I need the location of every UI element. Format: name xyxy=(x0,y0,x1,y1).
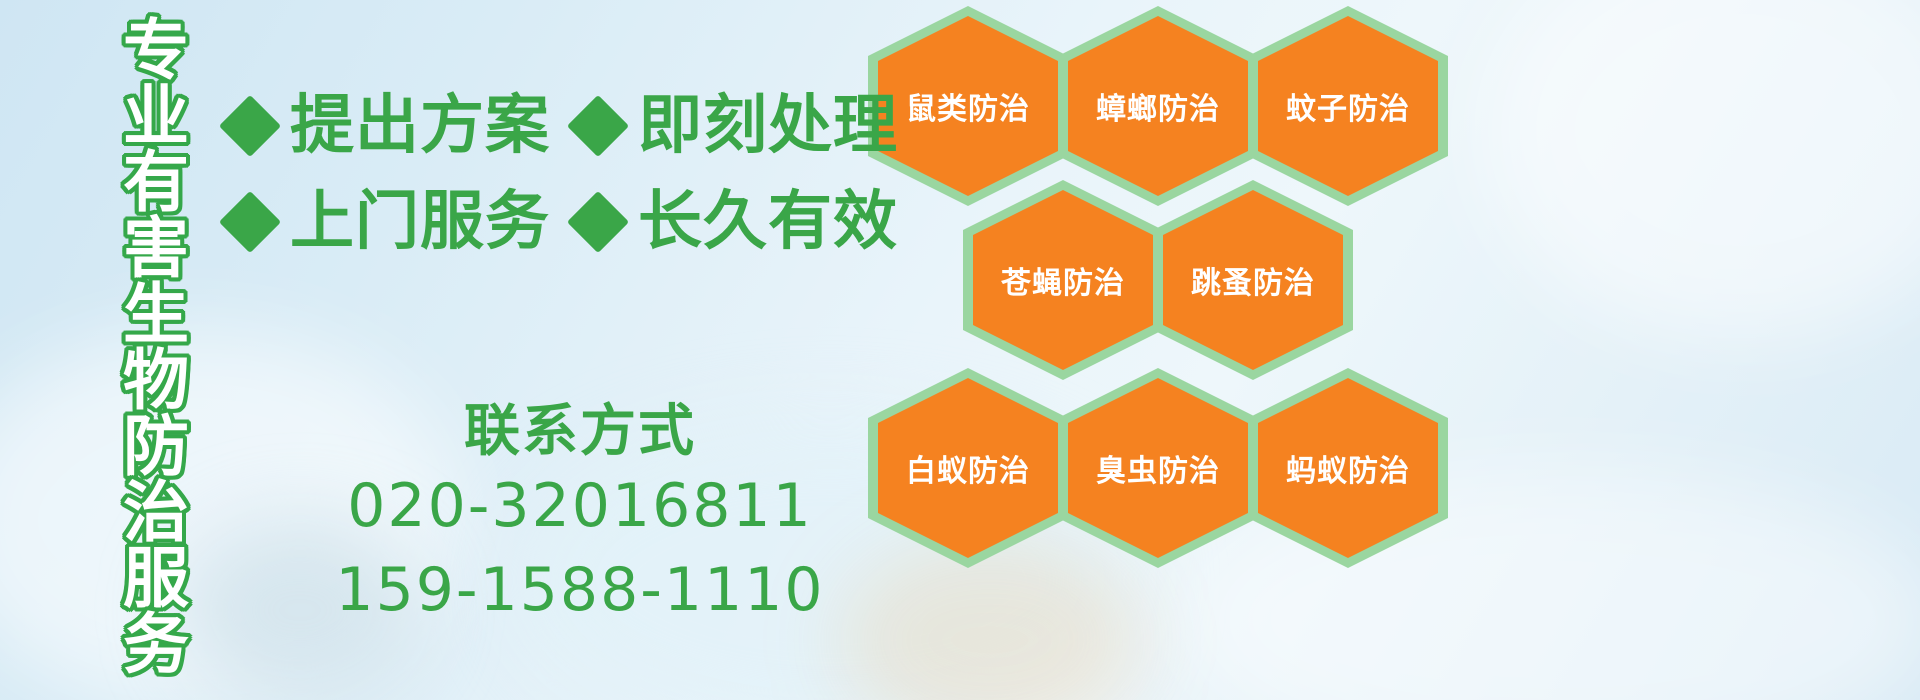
background-blob xyxy=(1480,0,1920,340)
diamond-bullet-icon xyxy=(567,191,629,253)
feature-list: 提出方案 即刻处理 上门服务 长久有效 xyxy=(228,78,868,270)
service-hexagon-rodent[interactable]: 鼠类防治 xyxy=(868,6,1068,206)
contact-title: 联系方式 xyxy=(300,400,860,464)
diamond-bullet-icon xyxy=(567,95,629,157)
feature-label: 即刻处理 xyxy=(638,94,898,158)
diamond-bullet-icon xyxy=(219,191,281,253)
service-label: 苍蝇防治 xyxy=(1001,258,1125,302)
service-label: 蚂蚁防治 xyxy=(1286,446,1410,490)
vertical-headline-char: 物 xyxy=(123,348,189,414)
vertical-headline-char: 业 xyxy=(123,84,189,150)
vertical-headline-char: 专 xyxy=(123,18,189,84)
pest-control-banner: 专 业 有 害 生 物 防 治 服 务 提出方案 即刻处理 上门服务 xyxy=(0,0,1920,700)
vertical-headline-char: 防 xyxy=(123,414,189,480)
vertical-headline-char: 生 xyxy=(123,282,189,348)
service-hexagon-mosquito[interactable]: 蚊子防治 xyxy=(1248,6,1448,206)
contact-phone-landline[interactable]: 020-32016811 xyxy=(300,464,860,548)
feature-row: 上门服务 长久有效 xyxy=(228,174,868,270)
feature-label: 提出方案 xyxy=(290,94,550,158)
service-hexagon-ant[interactable]: 蚂蚁防治 xyxy=(1248,368,1448,568)
service-hexagon-fly[interactable]: 苍蝇防治 xyxy=(963,180,1163,380)
feature-item: 上门服务 xyxy=(228,190,550,254)
service-label: 蟑螂防治 xyxy=(1096,84,1220,128)
service-label: 鼠类防治 xyxy=(906,84,1030,128)
feature-item: 即刻处理 xyxy=(576,94,898,158)
service-hexagon-bedbug[interactable]: 臭虫防治 xyxy=(1058,368,1258,568)
service-hexagon-flea[interactable]: 跳蚤防治 xyxy=(1153,180,1353,380)
service-label: 白蚁防治 xyxy=(906,446,1030,490)
contact-block: 联系方式 020-32016811 159-1588-1110 xyxy=(300,400,860,632)
contact-phone-mobile[interactable]: 159-1588-1110 xyxy=(300,548,860,632)
vertical-headline-char: 有 xyxy=(123,150,189,216)
vertical-headline-char: 服 xyxy=(123,546,189,612)
service-label: 跳蚤防治 xyxy=(1191,258,1315,302)
service-hexagon-cockroach[interactable]: 蟑螂防治 xyxy=(1058,6,1258,206)
vertical-headline: 专 业 有 害 生 物 防 治 服 务 xyxy=(104,18,208,558)
vertical-headline-char: 务 xyxy=(123,612,189,678)
diamond-bullet-icon xyxy=(219,95,281,157)
service-label: 蚊子防治 xyxy=(1286,84,1410,128)
service-label: 臭虫防治 xyxy=(1096,446,1220,490)
feature-item: 长久有效 xyxy=(576,190,898,254)
service-honeycomb: 鼠类防治 蟑螂防治 蚊子防治 苍蝇防治 跳蚤防治 白蚁防治 臭虫防治 xyxy=(852,0,1492,580)
vertical-headline-char: 治 xyxy=(123,480,189,546)
feature-row: 提出方案 即刻处理 xyxy=(228,78,868,174)
service-hexagon-termite[interactable]: 白蚁防治 xyxy=(868,368,1068,568)
feature-label: 上门服务 xyxy=(290,190,550,254)
vertical-headline-char: 害 xyxy=(123,216,189,282)
feature-label: 长久有效 xyxy=(638,190,898,254)
feature-item: 提出方案 xyxy=(228,94,550,158)
